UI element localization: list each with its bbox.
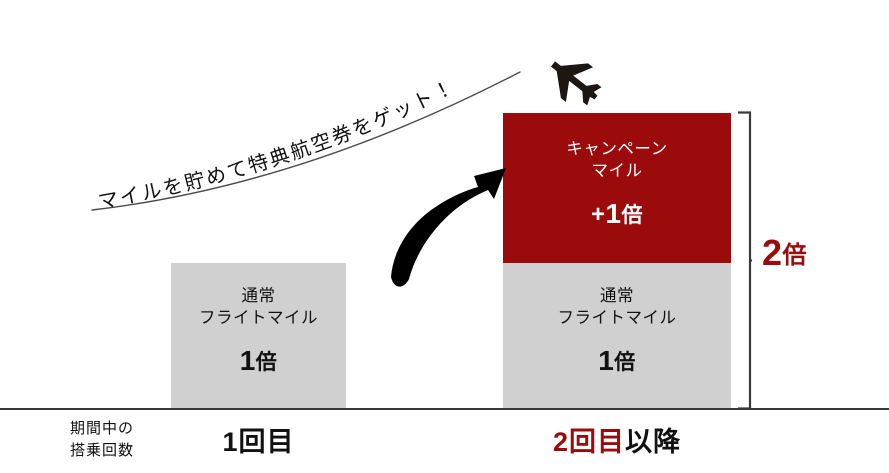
bar-second-flight-campaign-multiplier: +1倍 [503,196,731,233]
bar-second-flight-campaign-title: キャンペーン マイル [503,139,731,183]
total-multiplier-number: 2 [762,232,783,273]
bar-second-flight-campaign-plus-sign: + [591,201,606,228]
bar-second-flight-normal-multiplier-number: 1 [598,345,614,376]
bar-first-flight-normal-multiplier: 1倍 [171,343,346,380]
bar-second-flight-campaign-multiplier-number: 1 [605,198,621,229]
bar-second-flight-campaign-multiplier-unit: 倍 [622,204,644,227]
x-axis-label-second-flight-accent: 2回目 [553,427,625,457]
bar-first-flight-normal-miles: 通常 フライトマイル 1倍 [171,263,346,408]
bar-second-flight-normal-title: 通常 フライトマイル [503,286,731,330]
bar-second-flight-campaign-miles: キャンペーン マイル +1倍 [503,113,731,263]
curved-annotation-textpath: マイルを貯めて特典航空券をゲット！ [97,76,459,214]
total-bracket [736,111,752,410]
airplane-icon [539,47,609,115]
bar-first-flight-normal-multiplier-unit: 倍 [256,351,278,374]
total-multiplier-unit: 倍 [783,242,808,269]
curved-up-arrow-path [391,168,506,287]
flight-trail-arc [92,72,520,210]
mileage-campaign-infographic: 通常 フライトマイル 1倍 キャンペーン マイル +1倍 通常 フライトマイル … [0,0,889,473]
bar-first-flight-normal-multiplier-number: 1 [240,345,256,376]
x-axis-label-first-flight: 1回目 [171,420,346,459]
total-multiplier-label: 2倍 [762,232,807,274]
bar-second-flight-normal-miles: 通常 フライトマイル 1倍 [503,263,731,408]
x-axis-label-second-flight-onward: 2回目以降 [503,420,731,459]
bar-second-flight-campaign-content: キャンペーン マイル +1倍 [503,139,731,232]
bar-second-flight-normal-multiplier: 1倍 [503,343,731,380]
x-axis-label-second-flight-rest: 以降 [625,427,681,457]
curved-annotation-text: マイルを貯めて特典航空券をゲット！ [97,76,459,214]
bar-first-flight-normal-content: 通常 フライトマイル 1倍 [171,286,346,379]
axis-caption-boarding-count: 期間中の 搭乗回数 [38,418,166,462]
bar-second-flight-normal-content: 通常 フライトマイル 1倍 [503,286,731,379]
decorative-overlay: マイルを貯めて特典航空券をゲット！ [0,0,889,473]
total-bracket-path [738,113,750,409]
bar-first-flight-normal-title: 通常 フライトマイル [171,286,346,330]
curved-up-arrow-icon [391,168,506,287]
axis-baseline [0,408,889,410]
bar-second-flight-normal-multiplier-unit: 倍 [614,351,636,374]
